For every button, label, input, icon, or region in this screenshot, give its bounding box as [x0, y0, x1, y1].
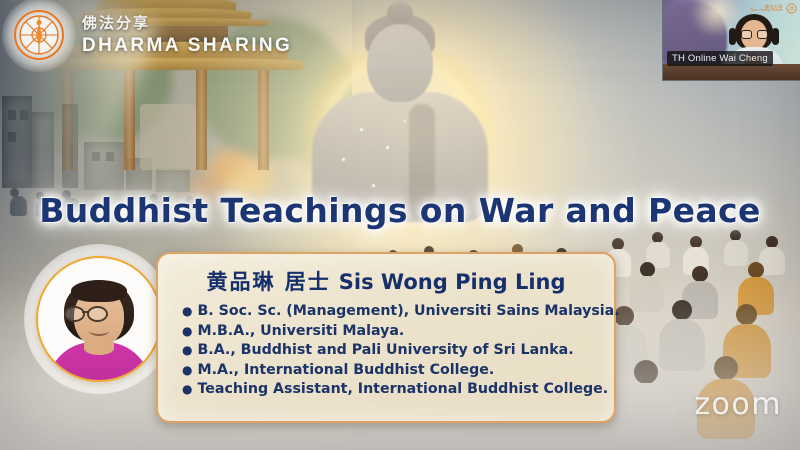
participant-video-tile[interactable]: 佛法分享 Than Hsiang Temple TH Online Wai Ch…	[662, 0, 800, 81]
credentials-list: ● B. Soc. Sc. (Management), Universiti S…	[172, 302, 600, 400]
zoom-watermark: zoom	[694, 387, 782, 422]
list-item: ● B. Soc. Sc. (Management), Universiti S…	[182, 302, 600, 322]
credential-text: Teaching Assistant, International Buddhi…	[197, 380, 608, 400]
speaker-name-chinese: 黄品琳 居士	[206, 270, 330, 294]
dharma-wheel-logo-icon	[8, 4, 70, 66]
speaker-name-english: Sis Wong Ping Ling	[339, 270, 566, 294]
credential-text: B.A., Buddhist and Pali University of Sr…	[197, 341, 573, 361]
bullet-icon: ●	[182, 305, 192, 317]
bullet-icon: ●	[182, 383, 192, 395]
credential-text: M.B.A., Universiti Malaya.	[197, 322, 404, 342]
brand-name-english: DHARMA SHARING	[82, 36, 292, 55]
bullet-icon: ●	[182, 325, 192, 337]
presentation-slide: 佛法分享 DHARMA SHARING Buddhist Teachings o…	[0, 0, 800, 450]
speaker-name: 黄品琳 居士Sis Wong Ping Ling	[172, 266, 600, 296]
credential-text: B. Soc. Sc. (Management), Universiti Sai…	[197, 302, 619, 322]
list-item: ● Teaching Assistant, International Budd…	[182, 380, 600, 400]
participant-name-label: TH Online Wai Cheng	[667, 51, 773, 66]
list-item: ● B.A., Buddhist and Pali University of …	[182, 341, 600, 361]
brand-header: 佛法分享 DHARMA SHARING	[8, 4, 292, 66]
bullet-icon: ●	[182, 344, 192, 356]
list-item: ● M.A., International Buddhist College.	[182, 361, 600, 381]
temple-watermark-logo-icon: 佛法分享 Than Hsiang Temple	[750, 3, 797, 14]
speaker-portrait	[36, 256, 162, 382]
brand-name-chinese: 佛法分享	[82, 16, 292, 31]
list-item: ● M.B.A., Universiti Malaya.	[182, 322, 600, 342]
slide-title: Buddhist Teachings on War and Peace	[0, 191, 800, 230]
temple-watermark-english: Than Hsiang Temple	[750, 9, 783, 12]
speaker-info-panel: 黄品琳 居士Sis Wong Ping Ling ● B. Soc. Sc. (…	[156, 252, 616, 423]
credential-text: M.A., International Buddhist College.	[197, 361, 494, 381]
bullet-icon: ●	[182, 364, 192, 376]
